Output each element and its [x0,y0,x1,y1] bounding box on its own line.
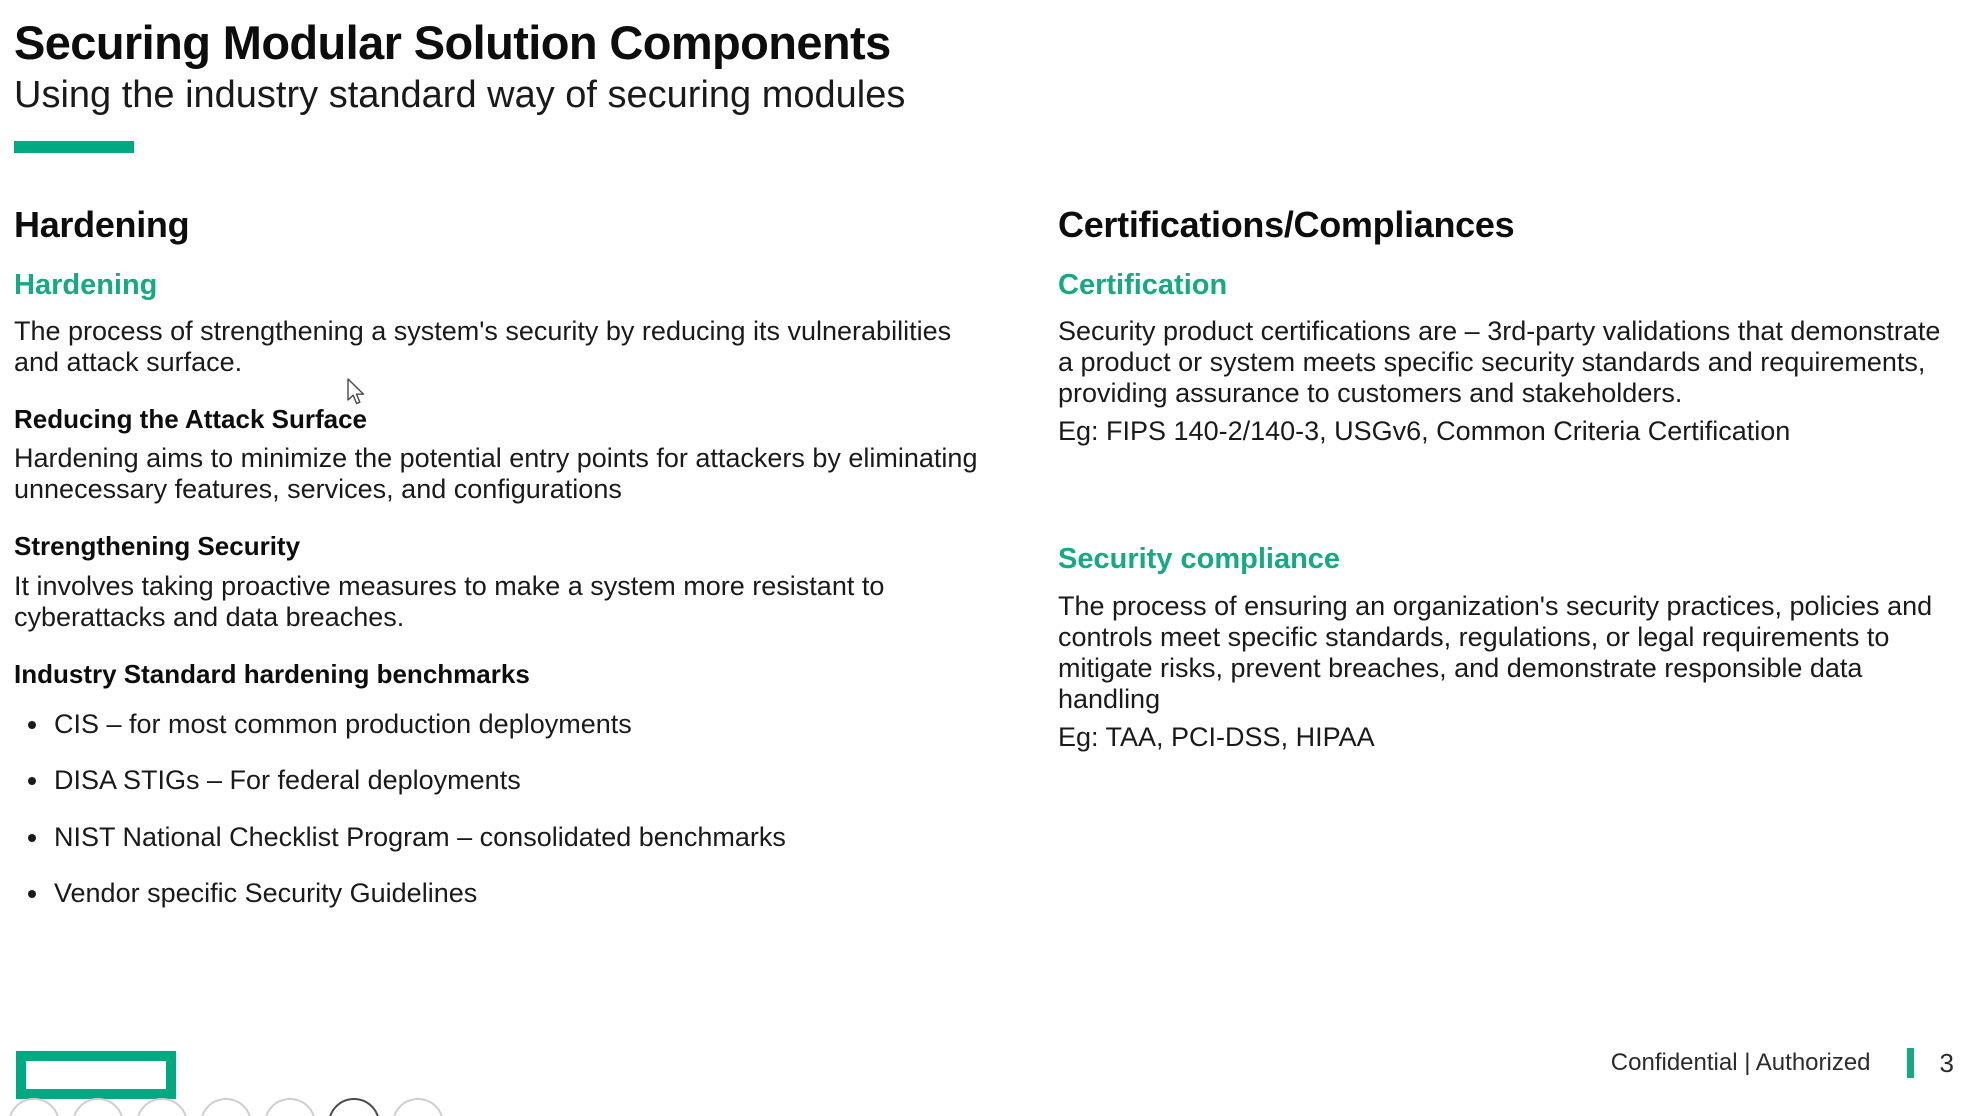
subtitles-icon[interactable] [264,1098,316,1116]
para-strengthening-security: It involves taking proactive measures to… [14,571,1002,633]
footer: Confidential | Authorized 3 [1611,1046,1954,1080]
footer-divider [1907,1048,1914,1078]
slide-header: Securing Modular Solution Components Usi… [14,18,1914,153]
benchmark-list: CIS – for most common production deploym… [14,708,1002,910]
laser-pointer-icon[interactable] [8,1098,60,1116]
content-columns: Hardening Hardening The process of stren… [0,205,1980,933]
column-spacer [1058,447,1962,543]
right-column-heading: Certifications/Compliances [1058,205,1962,245]
slide-layout-icon[interactable] [136,1098,188,1116]
slide-canvas: Securing Modular Solution Components Usi… [0,0,1980,1116]
left-intro-text: The process of strengthening a system's … [14,316,1002,378]
left-green-heading: Hardening [14,269,1002,302]
example-certification: Eg: FIPS 140-2/140-3, USGv6, Common Crit… [1058,415,1962,447]
camera-icon[interactable] [328,1098,380,1116]
list-item: NIST National Checklist Program – consol… [14,821,1002,853]
page-number: 3 [1940,1048,1954,1079]
para-security-compliance: The process of ensuring an organization'… [1058,591,1962,715]
list-item: CIS – for most common production deploym… [14,708,1002,740]
hpe-logo [16,1051,176,1099]
list-item: Vendor specific Security Guidelines [14,877,1002,909]
accent-rule [14,141,134,153]
para-reducing-attack-surface: Hardening aims to minimize the potential… [14,443,1002,505]
sub-heading-reducing-attack-surface: Reducing the Attack Surface [14,404,1002,435]
pen-icon[interactable] [72,1098,124,1116]
highlighter-icon[interactable] [200,1098,252,1116]
sub-heading-strengthening-security: Strengthening Security [14,531,1002,562]
right-green-heading-security-compliance: Security compliance [1058,543,1962,576]
para-certification: Security product certifications are – 3r… [1058,316,1962,409]
page-title: Securing Modular Solution Components [14,18,1914,69]
left-column-heading: Hardening [14,205,1002,245]
right-green-heading-certification: Certification [1058,269,1962,302]
confidentiality-label: Confidential | Authorized [1611,1049,1871,1077]
right-column: Certifications/Compliances Certification… [1020,205,1980,933]
list-item: DISA STIGs – For federal deployments [14,764,1002,796]
page-subtitle: Using the industry standard way of secur… [14,73,1914,118]
example-security-compliance: Eg: TAA, PCI-DSS, HIPAA [1058,721,1962,753]
presenter-toolbar[interactable] [8,1098,444,1116]
sub-heading-benchmarks: Industry Standard hardening benchmarks [14,659,1002,690]
more-options-icon[interactable] [392,1098,444,1116]
left-column: Hardening Hardening The process of stren… [0,205,1020,933]
